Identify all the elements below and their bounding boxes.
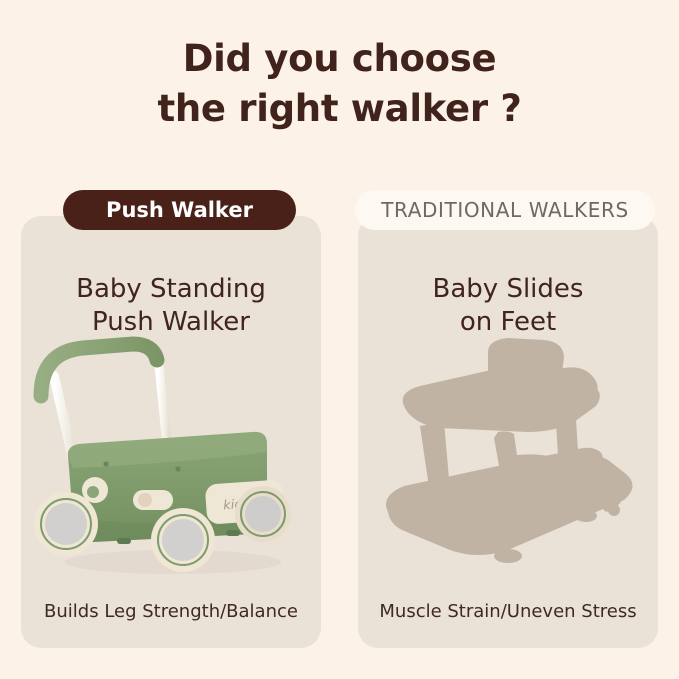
- comparison-card-push-walker: Baby Standing Push Walker: [21, 216, 321, 648]
- push-walker-caption: Builds Leg Strength/Balance: [21, 601, 321, 622]
- infographic-root: Did you choose the right walker ? Baby S…: [0, 0, 679, 679]
- walker-wheel-front-right: [151, 508, 215, 572]
- push-walker-illustration: kidpop: [21, 334, 321, 584]
- walker-foot-right: [226, 530, 240, 536]
- traditional-walker-heading: Baby Slides on Feet: [358, 273, 658, 339]
- push-walker-heading: Baby Standing Push Walker: [21, 273, 321, 339]
- walker-foot-left: [117, 538, 131, 544]
- traditional-walker-heading-line-1: Baby Slides: [358, 273, 658, 306]
- badge-push-walker: Push Walker: [63, 190, 296, 230]
- push-walker-heading-line-1: Baby Standing: [21, 273, 321, 306]
- traditional-walker-silhouette: [386, 338, 633, 563]
- walker-screw-right: [175, 466, 180, 471]
- comparison-card-traditional-walker: Baby Slides on Feet: [358, 216, 658, 648]
- walker-wheel-rear-right: [235, 486, 291, 542]
- walker-wheel-front-left: [34, 492, 98, 556]
- page-title-line-2: the right walker ?: [0, 84, 679, 134]
- traditional-walker-caption: Muscle Strain/Uneven Stress: [358, 601, 658, 622]
- page-title-line-1: Did you choose: [0, 34, 679, 84]
- badge-traditional-walkers: TRADITIONAL WALKERS: [355, 190, 655, 230]
- badge-push-walker-label: Push Walker: [106, 198, 253, 222]
- walker-screw-left: [103, 461, 108, 466]
- page-title: Did you choose the right walker ?: [0, 34, 679, 134]
- badge-traditional-walkers-label: TRADITIONAL WALKERS: [381, 198, 629, 222]
- walker-knob-left-inner: [87, 486, 99, 498]
- walker-knob-mid: [138, 493, 152, 507]
- traditional-walker-illustration: [358, 334, 658, 584]
